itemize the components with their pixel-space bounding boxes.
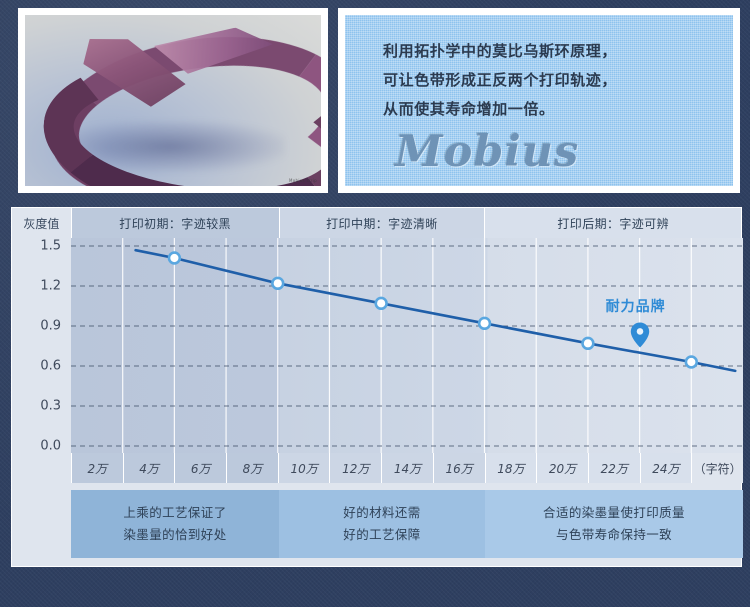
footer-cell-2-line-2: 好的工艺保障 [343, 524, 420, 546]
x-tick-4: 8万 [226, 453, 278, 483]
x-tick-9: 18万 [485, 453, 537, 483]
footer-cell-1-line-1: 上乘的工艺保证了 [123, 502, 226, 524]
y-tick-4: 0.6 [40, 359, 61, 374]
footer-cell-3-line-1: 合适的染墨量使打印质量 [543, 502, 685, 524]
photo-credit: Mobius strip [289, 178, 317, 183]
footer-cell-1: 上乘的工艺保证了 染墨量的恰到好处 [71, 490, 279, 558]
y-tick-5: 0.3 [40, 399, 61, 414]
x-tick-3: 6万 [174, 453, 226, 483]
x-tick-1: 2万 [71, 453, 123, 483]
hero-text-panel: 利用拓扑学中的莫比乌斯环原理， 可让色带形成正反两个打印轨迹， 从而使其寿命增加… [345, 15, 733, 186]
x-axis-unit-label: （字符） [691, 453, 743, 483]
annotation-label: 耐力品牌 [606, 296, 666, 316]
hero-line-1: 利用拓扑学中的莫比乌斯环原理， [383, 37, 719, 66]
x-axis-labels: 2万4万6万8万10万12万14万16万18万20万22万24万（字符） [71, 453, 743, 483]
x-tick-12: 24万 [640, 453, 692, 483]
x-tick-2: 4万 [123, 453, 175, 483]
x-tick-8: 16万 [433, 453, 485, 483]
y-axis-title: 灰度值 [12, 208, 71, 238]
phase-band-late: 打印后期：字迹可辨 [484, 208, 741, 238]
y-tick-3: 0.9 [40, 319, 61, 334]
hero-description: 利用拓扑学中的莫比乌斯环原理， 可让色带形成正反两个打印轨迹， 从而使其寿命增加… [383, 37, 719, 124]
plot-area: 耐力品牌 [71, 238, 743, 453]
mobius-strip-photo: Mobius strip [25, 15, 321, 186]
chart-footer-row: 上乘的工艺保证了 染墨量的恰到好处 好的材料还需 好的工艺保障 合适的染墨量使打… [71, 490, 743, 558]
phase-band-middle: 打印中期：字迹清晰 [279, 208, 485, 238]
hero-text-frame: 利用拓扑学中的莫比乌斯环原理， 可让色带形成正反两个打印轨迹， 从而使其寿命增加… [338, 8, 740, 193]
hero-line-2: 可让色带形成正反两个打印轨迹， [383, 66, 719, 95]
chart-phase-header: 灰度值 打印初期：字迹较黑 打印中期：字迹清晰 打印后期：字迹可辨 [12, 208, 741, 238]
footer-cell-1-line-2: 染墨量的恰到好处 [123, 524, 226, 546]
y-tick-1: 1.5 [40, 239, 61, 254]
mobius-photo-frame: Mobius strip [18, 8, 328, 193]
y-tick-6: 0.0 [40, 439, 61, 454]
x-tick-10: 20万 [536, 453, 588, 483]
phase-band-early: 打印初期：字迹较黑 [71, 208, 279, 238]
x-tick-6: 12万 [329, 453, 381, 483]
x-tick-11: 22万 [588, 453, 640, 483]
footer-cell-3: 合适的染墨量使打印质量 与色带寿命保持一致 [485, 490, 743, 558]
x-tick-5: 10万 [278, 453, 330, 483]
x-tick-7: 14万 [381, 453, 433, 483]
chart-panel: 灰度值 打印初期：字迹较黑 打印中期：字迹清晰 打印后期：字迹可辨 1.5 1.… [11, 207, 742, 567]
map-pin-icon [630, 322, 650, 348]
mobius-logo: Mobius [395, 127, 579, 177]
hero-row: Mobius strip 利用拓扑学中的莫比乌斯环原理， 可让色带形成正反两个打… [0, 0, 750, 200]
y-tick-2: 1.2 [40, 279, 61, 294]
hero-line-3: 从而使其寿命增加一倍。 [383, 95, 719, 124]
footer-cell-2-line-1: 好的材料还需 [343, 502, 420, 524]
footer-cell-2: 好的材料还需 好的工艺保障 [279, 490, 485, 558]
footer-cell-3-line-2: 与色带寿命保持一致 [556, 524, 672, 546]
y-axis-labels: 1.5 1.2 0.9 0.6 0.3 0.0 [12, 238, 71, 453]
